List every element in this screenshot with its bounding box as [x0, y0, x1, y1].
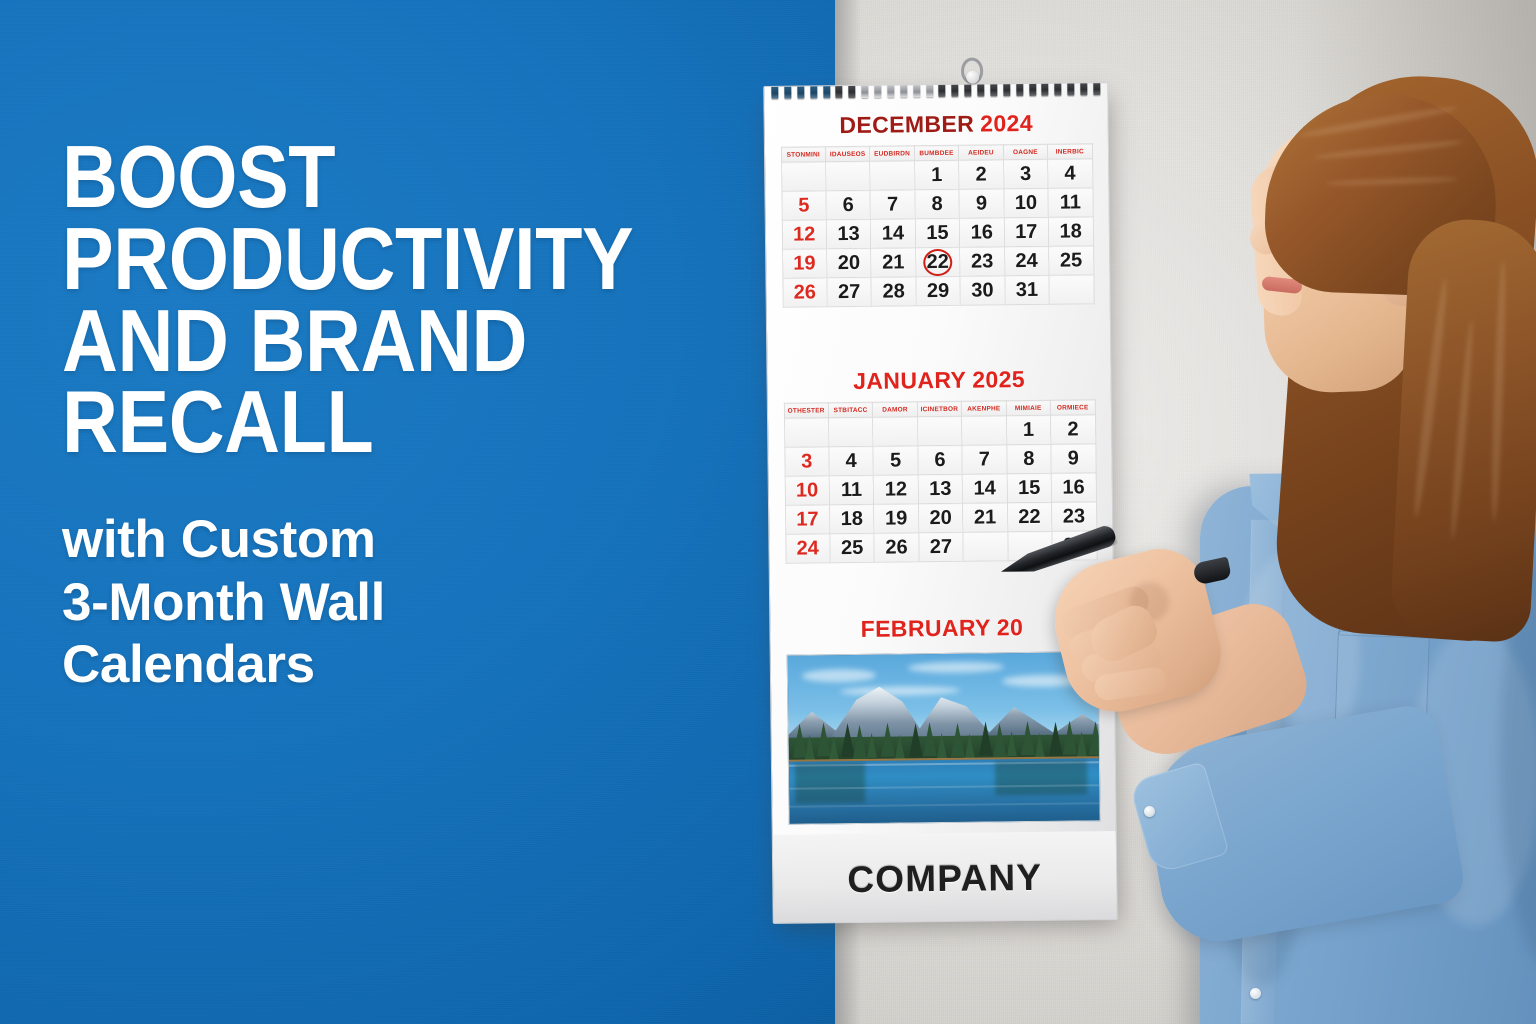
- conifer-tree: [867, 733, 877, 758]
- spiral-coil: [1054, 83, 1061, 96]
- conifer-tree: [895, 734, 905, 759]
- cuff-button: [1144, 806, 1155, 817]
- day-cell: 9: [959, 189, 1004, 219]
- week-row: 12: [784, 415, 1095, 448]
- week-row: 10111213141516: [785, 473, 1096, 506]
- conifer-tree: [880, 723, 894, 757]
- wall-calendar: DECEMBER2024 STONMINIIDAUSEOSEUDBIRDNBUM…: [763, 82, 1117, 924]
- day-cell: 26: [782, 278, 827, 308]
- month-title-january: JANUARY2025: [767, 365, 1110, 396]
- conifer-tree: [950, 723, 964, 757]
- day-cell-empty: [870, 161, 915, 191]
- spiral-coil: [797, 86, 804, 99]
- spiral-coil: [836, 85, 843, 98]
- spiral-coil: [874, 85, 881, 98]
- calendar-hanger-hook: [955, 57, 989, 101]
- month-block-december: DECEMBER2024 STONMINIIDAUSEOSEUDBIRDNBUM…: [765, 109, 1110, 308]
- day-cell: 17: [1004, 217, 1049, 247]
- conifer-tree: [993, 723, 1007, 757]
- day-cell: 1: [914, 160, 959, 190]
- day-cell: 28: [871, 277, 916, 307]
- spiral-coil: [913, 84, 920, 97]
- week-row: 19202122232425: [782, 246, 1093, 279]
- day-cell: 1: [1006, 415, 1051, 445]
- date-grid-body: 1234567891011121314151617181920212223242…: [781, 159, 1094, 308]
- conifer-tree: [1048, 722, 1062, 756]
- month-title-december: DECEMBER2024: [765, 109, 1108, 140]
- day-cell: 4: [1048, 159, 1093, 189]
- day-cell: 24: [1004, 246, 1049, 276]
- day-cell: 8: [1006, 444, 1051, 474]
- hair-strand: [1411, 278, 1450, 517]
- day-cell: 22: [1007, 502, 1052, 532]
- month-block-january: JANUARY2025 OTHESTERSTBITACCDAMORICINETB…: [767, 365, 1112, 564]
- company-name: COMPANY: [847, 857, 1042, 900]
- spiral-coil: [926, 84, 933, 97]
- day-cell: 27: [919, 532, 964, 562]
- conifer-tree: [1077, 731, 1087, 756]
- weekday-header-2: DAMOR: [873, 402, 918, 418]
- conifer-tree: [965, 734, 975, 759]
- calendar-sheet: DECEMBER2024 STONMINIIDAUSEOSEUDBIRDNBUM…: [763, 82, 1117, 924]
- day-cell: 5: [781, 191, 826, 221]
- day-cell: 18: [829, 504, 874, 534]
- day-cell: 29: [916, 276, 961, 306]
- spiral-binding: [764, 82, 1107, 102]
- day-cell: 21: [963, 503, 1008, 533]
- spiral-coil: [771, 86, 778, 99]
- month-year: 2025: [972, 366, 1025, 393]
- day-cell-empty: [826, 161, 871, 191]
- spiral-coil: [1016, 83, 1023, 96]
- page-title: BOOST PRODUCTIVITY AND BRAND RECALL: [62, 136, 678, 463]
- day-cell: 13: [826, 219, 871, 249]
- headline-line-2: PRODUCTIVITY: [62, 218, 678, 300]
- day-cell: 20: [918, 503, 963, 533]
- month-year: 20: [997, 614, 1024, 640]
- day-cell: 6: [826, 190, 871, 220]
- day-cell: 16: [1051, 473, 1096, 503]
- day-cell: 31: [1005, 275, 1050, 305]
- day-cell: 25: [830, 533, 875, 563]
- day-cell: 11: [829, 475, 874, 505]
- day-cell-empty: [1049, 275, 1094, 305]
- weekday-header-5: OAGNE: [1003, 144, 1048, 160]
- conifer-tree: [1020, 721, 1034, 755]
- day-cell: 12: [782, 220, 827, 250]
- day-cell: 18: [1048, 217, 1093, 247]
- date-grid-body: 1234567891011121314151617181920212223242…: [784, 415, 1097, 564]
- spiral-coil: [810, 85, 817, 98]
- week-row: 262728293031: [782, 275, 1093, 308]
- headline-line-3: AND BRAND: [62, 300, 678, 382]
- day-cell-empty: [917, 416, 962, 446]
- shirt-button: [1250, 988, 1261, 999]
- conifer-tree: [1007, 731, 1017, 756]
- day-cell: 17: [785, 505, 830, 535]
- subheading-line-2: 3-Month Wall: [62, 572, 762, 635]
- day-cell: 10: [785, 476, 830, 506]
- weekday-header-1: STBITACC: [828, 402, 873, 418]
- day-cell: 2: [959, 160, 1004, 190]
- day-cell: 22: [915, 247, 960, 277]
- day-cell: 24: [785, 534, 830, 564]
- person-figure: [1130, 0, 1536, 1024]
- day-cell-empty: [962, 416, 1007, 446]
- spiral-coil: [1003, 83, 1010, 96]
- day-cell: 7: [870, 190, 915, 220]
- spiral-coil: [784, 86, 791, 99]
- conifer-tree: [922, 722, 936, 756]
- weekday-header-5: MIMIAIE: [1006, 400, 1051, 416]
- day-cell: 12: [874, 475, 919, 505]
- day-cell: 10: [1004, 188, 1049, 218]
- conifer-tree: [1088, 721, 1100, 755]
- banner-stage: BOOST PRODUCTIVITY AND BRAND RECALL with…: [0, 0, 1536, 1024]
- day-cell: 30: [960, 276, 1005, 306]
- water-reflection: [795, 763, 865, 804]
- headline-line-1: BOOST: [62, 136, 678, 218]
- subheading: with Custom 3-Month Wall Calendars: [62, 509, 762, 697]
- calendar-grid-december: STONMINIIDAUSEOSEUDBIRDNBUMBDEEAEIDEUOAG…: [780, 143, 1094, 308]
- week-row: 1234: [781, 159, 1092, 192]
- hair-side: [1389, 217, 1536, 644]
- day-cell: 25: [1049, 246, 1094, 276]
- head: [1250, 70, 1490, 442]
- spiral-coil: [939, 84, 946, 97]
- weekday-header-4: AEIDEU: [959, 145, 1004, 161]
- week-row: 12131415161718: [782, 217, 1093, 250]
- hair-strand: [1326, 176, 1458, 187]
- day-cell: 27: [827, 277, 872, 307]
- month-name: JANUARY: [853, 367, 966, 394]
- day-cell: 3: [1003, 159, 1048, 189]
- conifer-tree: [978, 721, 992, 755]
- conifer-tree: [829, 735, 839, 760]
- week-row: 567891011: [781, 188, 1092, 221]
- circled-date-marker: [923, 248, 952, 275]
- day-cell: 9: [1051, 444, 1096, 474]
- day-cell: 8: [915, 189, 960, 219]
- hair-strand: [1448, 320, 1475, 540]
- day-cell: 7: [962, 445, 1007, 475]
- day-cell-empty: [873, 417, 918, 447]
- day-cell: 16: [959, 218, 1004, 248]
- day-cell-empty: [784, 418, 829, 448]
- day-cell-empty: [963, 532, 1008, 562]
- spiral-coil: [900, 84, 907, 97]
- day-cell: 21: [871, 248, 916, 278]
- weekday-header-2: EUDBIRDN: [870, 146, 915, 162]
- spiral-coil: [861, 85, 868, 98]
- weekday-header-3: BUMBDEE: [914, 145, 959, 161]
- headline-line-4: RECALL: [62, 381, 678, 463]
- day-cell: 15: [915, 218, 960, 248]
- weekday-header-0: OTHESTER: [784, 403, 829, 419]
- hair-strand: [1314, 138, 1464, 161]
- day-cell: 26: [874, 533, 919, 563]
- day-cell: 19: [782, 249, 827, 279]
- day-cell: 14: [871, 219, 916, 249]
- landscape-photo: [787, 651, 1101, 825]
- day-cell: 23: [1052, 502, 1097, 532]
- day-cell: 2: [1051, 415, 1096, 445]
- weekday-header-0: STONMINI: [781, 147, 826, 163]
- spiral-coil: [887, 84, 894, 97]
- day-cell: 20: [827, 248, 872, 278]
- conifer-tree: [1035, 733, 1045, 758]
- calendar-grid-january: OTHESTERSTBITACCDAMORICINETBORAKENPHEMIM…: [783, 399, 1097, 564]
- conifer-tree: [805, 734, 815, 759]
- weekday-header-3: ICINETBOR: [917, 401, 962, 417]
- weekday-header-1: IDAUSEOS: [825, 146, 870, 162]
- day-cell: 4: [829, 446, 874, 476]
- month-name: FEBRUARY: [861, 614, 991, 641]
- day-cell-empty: [828, 417, 873, 447]
- conifer-tree: [853, 725, 867, 759]
- day-cell: 3: [784, 447, 829, 477]
- wall-nail: [966, 71, 979, 84]
- marketing-copy: BOOST PRODUCTIVITY AND BRAND RECALL with…: [62, 136, 762, 697]
- spiral-coil: [849, 85, 856, 98]
- day-cell-empty: [781, 162, 826, 192]
- company-logo-bar: COMPANY: [773, 831, 1117, 924]
- spiral-coil: [990, 83, 997, 96]
- subheading-line-3: Calendars: [62, 634, 762, 697]
- month-year: 2024: [980, 110, 1033, 137]
- week-row: 3456789: [784, 444, 1095, 477]
- hair-strand: [1490, 261, 1508, 521]
- spiral-coil: [1093, 82, 1100, 95]
- water-reflection: [995, 760, 1087, 795]
- hair-strand: [1299, 104, 1458, 140]
- spiral-coil: [823, 85, 830, 98]
- spiral-coil: [1042, 83, 1049, 96]
- weekday-header-6: INERBIC: [1047, 144, 1092, 160]
- weekday-header-6: ORMIECE: [1050, 400, 1095, 416]
- weekday-header-4: AKENPHE: [962, 401, 1007, 417]
- month-name: DECEMBER: [839, 111, 974, 139]
- day-cell: 13: [918, 474, 963, 504]
- day-cell: 6: [918, 445, 963, 475]
- day-cell: 15: [1007, 473, 1052, 503]
- day-cell: 14: [962, 474, 1007, 504]
- day-cell: 23: [960, 247, 1005, 277]
- day-cell: 5: [873, 446, 918, 476]
- spiral-coil: [1080, 82, 1087, 95]
- subheading-line-1: with Custom: [62, 509, 762, 572]
- conifer-tree: [1062, 720, 1076, 754]
- conifer-tree: [937, 733, 947, 758]
- lake-water: [789, 758, 1100, 824]
- day-cell: 19: [874, 504, 919, 534]
- week-row: 17181920212223: [785, 502, 1096, 535]
- conifer-tree: [908, 723, 922, 757]
- spiral-coil: [1029, 83, 1036, 96]
- spiral-coil: [1067, 82, 1074, 95]
- day-cell: 11: [1048, 188, 1093, 218]
